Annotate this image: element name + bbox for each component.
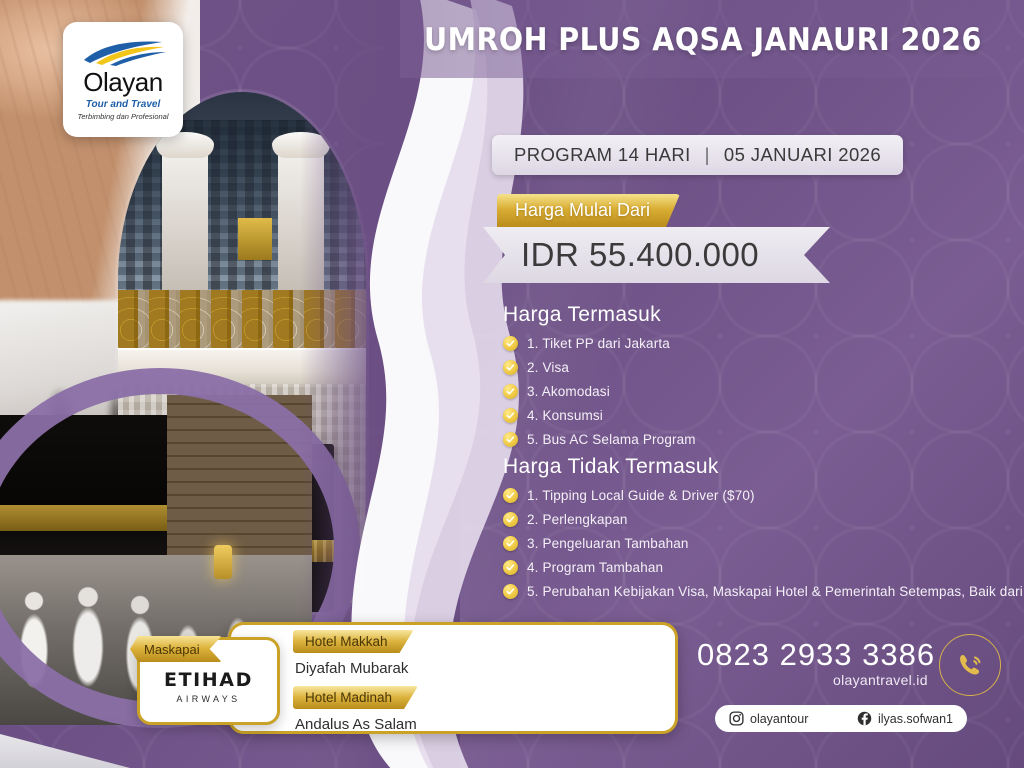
- phone-number[interactable]: 0823 2933 3386: [697, 637, 935, 673]
- included-item-text: 3. Akomodasi: [527, 384, 610, 399]
- airline-name: ETIHAD: [164, 669, 253, 691]
- etihad-logo: ETIHAD AIRWAYS: [164, 669, 253, 704]
- included-item-text: 5. Bus AC Selama Program: [527, 432, 696, 447]
- list-item: 3. Pengeluaran Tambahan: [503, 536, 1024, 551]
- program-duration: PROGRAM 14 HARI: [514, 144, 691, 166]
- check-icon: [503, 584, 518, 599]
- included-title: Harga Termasuk: [503, 303, 696, 327]
- list-item: 2. Perlengkapan: [503, 512, 1024, 527]
- list-item: 3. Akomodasi: [503, 384, 696, 399]
- list-item: 4. Konsumsi: [503, 408, 696, 423]
- excluded-item-text: 2. Perlengkapan: [527, 512, 628, 527]
- check-icon: [503, 432, 518, 447]
- check-icon: [503, 536, 518, 551]
- logo-subtagline: Terbimbing dan Profesional: [77, 112, 168, 121]
- instagram-icon: [729, 711, 744, 726]
- hotel-list: Hotel Makkah Diyafah Mubarak Hotel Madin…: [293, 630, 653, 742]
- website-url[interactable]: olayantravel.id: [833, 672, 928, 688]
- hotel-makkah-tag: Hotel Makkah: [293, 630, 414, 653]
- check-icon: [503, 512, 518, 527]
- facebook-icon: [857, 711, 872, 726]
- maskapai-label: Maskapai: [144, 642, 200, 657]
- price-label: Harga Mulai Dari: [515, 200, 650, 221]
- included-item-text: 2. Visa: [527, 360, 569, 375]
- list-item: 5. Bus AC Selama Program: [503, 432, 696, 447]
- list-item: 4. Program Tambahan: [503, 560, 1024, 575]
- included-item-text: 4. Konsumsi: [527, 408, 603, 423]
- excluded-item-text: 1. Tipping Local Guide & Driver ($70): [527, 488, 755, 503]
- excluded-item-text: 5. Perubahan Kebijakan Visa, Maskapai Ho…: [527, 584, 1024, 599]
- hotel-madinah-name: Andalus As Salam: [295, 716, 653, 733]
- excluded-section: Harga Tidak Termasuk 1. Tipping Local Gu…: [503, 455, 1024, 608]
- check-icon: [503, 336, 518, 351]
- check-icon: [503, 384, 518, 399]
- excluded-title: Harga Tidak Termasuk: [503, 455, 1024, 479]
- list-item: 1. Tipping Local Guide & Driver ($70): [503, 488, 1024, 503]
- logo-tagline: Tour and Travel: [86, 99, 160, 110]
- minaret-right: [278, 144, 324, 294]
- social-links-bar: olayantour ilyas.sofwan1: [715, 705, 967, 732]
- price-amount: IDR 55.400.000: [521, 236, 759, 274]
- kaaba-door: [238, 218, 272, 260]
- phone-call-badge[interactable]: [939, 634, 1001, 696]
- poster-canvas: Olayan Tour and Travel Terbimbing dan Pr…: [0, 0, 1024, 768]
- instagram-link[interactable]: olayantour: [729, 711, 808, 726]
- minaret-left: [162, 144, 208, 294]
- pilgrims-lantern: [214, 545, 232, 579]
- excluded-item-text: 3. Pengeluaran Tambahan: [527, 536, 689, 551]
- included-item-text: 1. Tiket PP dari Jakarta: [527, 336, 670, 351]
- check-icon: [503, 408, 518, 423]
- hotel-makkah-name: Diyafah Mubarak: [295, 660, 653, 677]
- price-label-tag: Harga Mulai Dari: [497, 194, 680, 227]
- program-date: 05 JANUARI 2026: [724, 144, 881, 166]
- list-item: 2. Visa: [503, 360, 696, 375]
- page-title: UMROH PLUS AQSA JANAURI 2026: [424, 22, 958, 58]
- facebook-handle: ilyas.sofwan1: [878, 712, 953, 726]
- olayan-swoosh-icon: [80, 38, 166, 66]
- list-item: 5. Perubahan Kebijakan Visa, Maskapai Ho…: [503, 584, 1024, 599]
- included-section: Harga Termasuk 1. Tiket PP dari Jakarta …: [503, 303, 696, 456]
- logo-brand-text: Olayan: [83, 67, 162, 98]
- golden-arcade: [118, 290, 366, 352]
- check-icon: [503, 488, 518, 503]
- minaret-cap-right: [272, 132, 330, 158]
- price-ribbon: IDR 55.400.000: [483, 227, 830, 283]
- facebook-link[interactable]: ilyas.sofwan1: [857, 711, 953, 726]
- program-separator: |: [705, 144, 710, 166]
- airline-subtitle: AIRWAYS: [164, 694, 253, 704]
- instagram-handle: olayantour: [750, 712, 808, 726]
- list-item: 1. Tiket PP dari Jakarta: [503, 336, 696, 351]
- program-info-pill: PROGRAM 14 HARI | 05 JANUARI 2026: [492, 135, 903, 175]
- brand-logo-card: Olayan Tour and Travel Terbimbing dan Pr…: [63, 22, 183, 137]
- excluded-item-text: 4. Program Tambahan: [527, 560, 663, 575]
- mataf-balcony: [118, 348, 366, 386]
- maskapai-tag: Maskapai: [130, 636, 222, 662]
- check-icon: [503, 560, 518, 575]
- phone-icon: [954, 649, 986, 681]
- hotel-madinah-tag: Hotel Madinah: [293, 686, 418, 709]
- check-icon: [503, 360, 518, 375]
